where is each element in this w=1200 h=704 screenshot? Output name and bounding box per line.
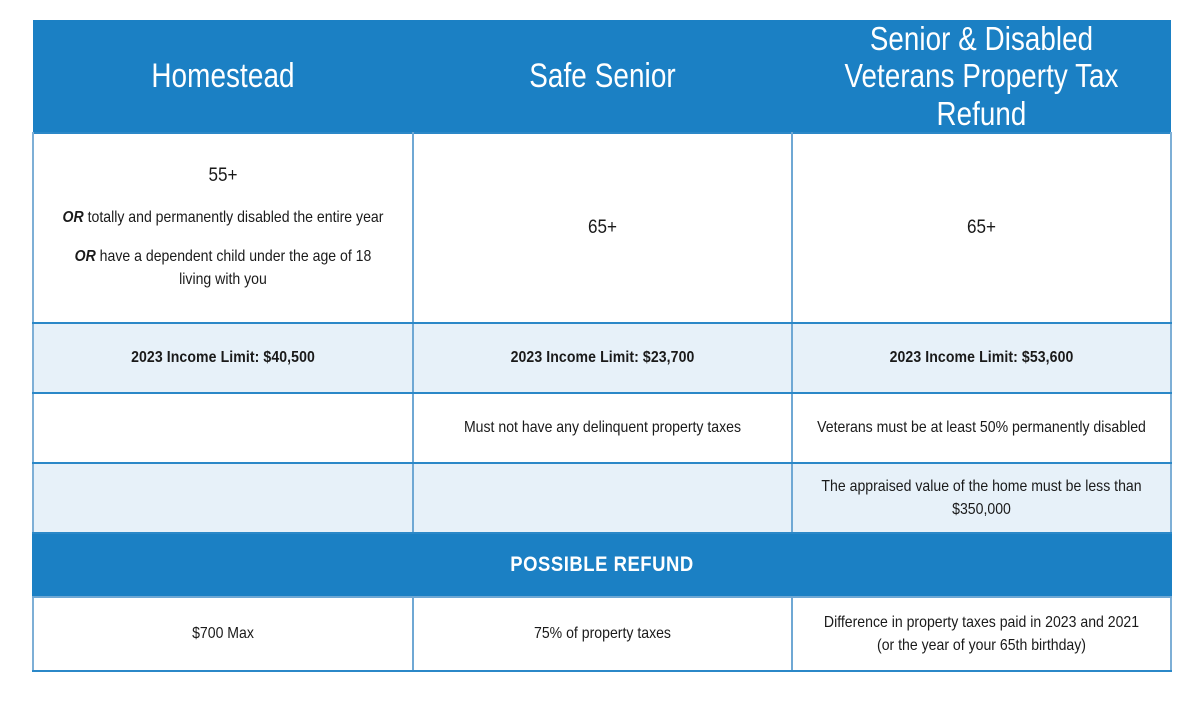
table-row-extra-requirement-1: Must not have any delinquent property ta… <box>33 393 1171 463</box>
cell-refund-senior-disabled-veterans: Difference in property taxes paid in 202… <box>792 597 1171 671</box>
cell-income-limit-senior-disabled-veterans: 2023 Income Limit: $53,600 <box>792 323 1171 393</box>
income-limit-safe-senior-value: 2023 Income Limit: $23,700 <box>437 346 769 369</box>
table-row-refund-banner: POSSIBLE REFUND <box>33 533 1171 597</box>
column-header-homestead-label: Homestead <box>67 57 379 95</box>
cell-income-limit-homestead: 2023 Income Limit: $40,500 <box>33 323 413 393</box>
cell-income-limit-safe-senior: 2023 Income Limit: $23,700 <box>413 323 792 393</box>
cell-extra-requirement-2-senior-disabled-veterans: The appraised value of the home must be … <box>792 463 1171 533</box>
column-header-safe-senior-label: Safe Senior <box>447 57 758 95</box>
cell-eligibility-homestead: 55+ OR totally and permanently disabled … <box>33 133 413 323</box>
income-limit-senior-disabled-veterans-value: 2023 Income Limit: $53,600 <box>816 346 1148 369</box>
cell-extra-requirement-1-senior-disabled-veterans: Veterans must be at least 50% permanentl… <box>792 393 1171 463</box>
header-row: Homestead Safe Senior Senior & Disabled … <box>33 20 1171 133</box>
eligibility-age-homestead: 55+ <box>53 164 393 189</box>
eligibility-or-keyword-2: OR <box>75 248 96 265</box>
eligibility-alternative-1-text: totally and permanently disabled the ent… <box>84 209 384 226</box>
comparison-table-container: Homestead Safe Senior Senior & Disabled … <box>32 20 1170 662</box>
table-row-extra-requirement-2: The appraised value of the home must be … <box>33 463 1171 533</box>
extra-requirement-2-senior-disabled-veterans-value: The appraised value of the home must be … <box>816 475 1148 521</box>
cell-extra-requirement-1-safe-senior: Must not have any delinquent property ta… <box>413 393 792 463</box>
cell-eligibility-safe-senior: 65+ <box>413 133 792 323</box>
extra-requirement-1-senior-disabled-veterans-value: Veterans must be at least 50% permanentl… <box>816 416 1148 439</box>
income-limit-homestead-value: 2023 Income Limit: $40,500 <box>57 346 390 369</box>
column-header-senior-disabled-veterans-label: Senior & Disabled Veterans Property Tax … <box>822 20 1140 132</box>
cell-extra-requirement-1-homestead <box>33 393 413 463</box>
cell-extra-requirement-2-safe-senior <box>413 463 792 533</box>
eligibility-criteria-list: 55+ OR totally and permanently disabled … <box>34 164 412 291</box>
cell-refund-homestead: $700 Max <box>33 597 413 671</box>
eligibility-alternative-1: OR totally and permanently disabled the … <box>57 207 390 230</box>
possible-refund-banner-label: POSSIBLE REFUND <box>102 553 1102 577</box>
table-body: 55+ OR totally and permanently disabled … <box>33 133 1171 671</box>
column-header-homestead: Homestead <box>33 20 413 133</box>
extra-requirement-1-safe-senior-value: Must not have any delinquent property ta… <box>437 416 769 439</box>
table-row-refund-amount: $700 Max 75% of property taxes Differenc… <box>33 597 1171 671</box>
cell-eligibility-senior-disabled-veterans: 65+ <box>792 133 1171 323</box>
column-header-safe-senior: Safe Senior <box>413 20 792 133</box>
property-tax-comparison-table: Homestead Safe Senior Senior & Disabled … <box>32 20 1172 672</box>
table-header: Homestead Safe Senior Senior & Disabled … <box>33 20 1171 133</box>
column-header-senior-disabled-veterans: Senior & Disabled Veterans Property Tax … <box>792 20 1171 133</box>
cell-refund-safe-senior: 75% of property taxes <box>413 597 792 671</box>
eligibility-or-keyword-1: OR <box>63 209 84 226</box>
refund-senior-disabled-veterans-value: Difference in property taxes paid in 202… <box>816 611 1148 657</box>
eligibility-alternative-2-text: have a dependent child under the age of … <box>96 248 372 288</box>
table-row-income-limit: 2023 Income Limit: $40,500 2023 Income L… <box>33 323 1171 393</box>
refund-homestead-value: $700 Max <box>57 622 390 645</box>
possible-refund-banner: POSSIBLE REFUND <box>33 533 1171 597</box>
eligibility-alternative-2: OR have a dependent child under the age … <box>57 246 390 291</box>
eligibility-age-senior-disabled-veterans: 65+ <box>812 217 1151 239</box>
cell-extra-requirement-2-homestead <box>33 463 413 533</box>
eligibility-age-safe-senior: 65+ <box>433 217 772 239</box>
table-row-eligibility: 55+ OR totally and permanently disabled … <box>33 133 1171 323</box>
refund-safe-senior-value: 75% of property taxes <box>437 622 769 645</box>
